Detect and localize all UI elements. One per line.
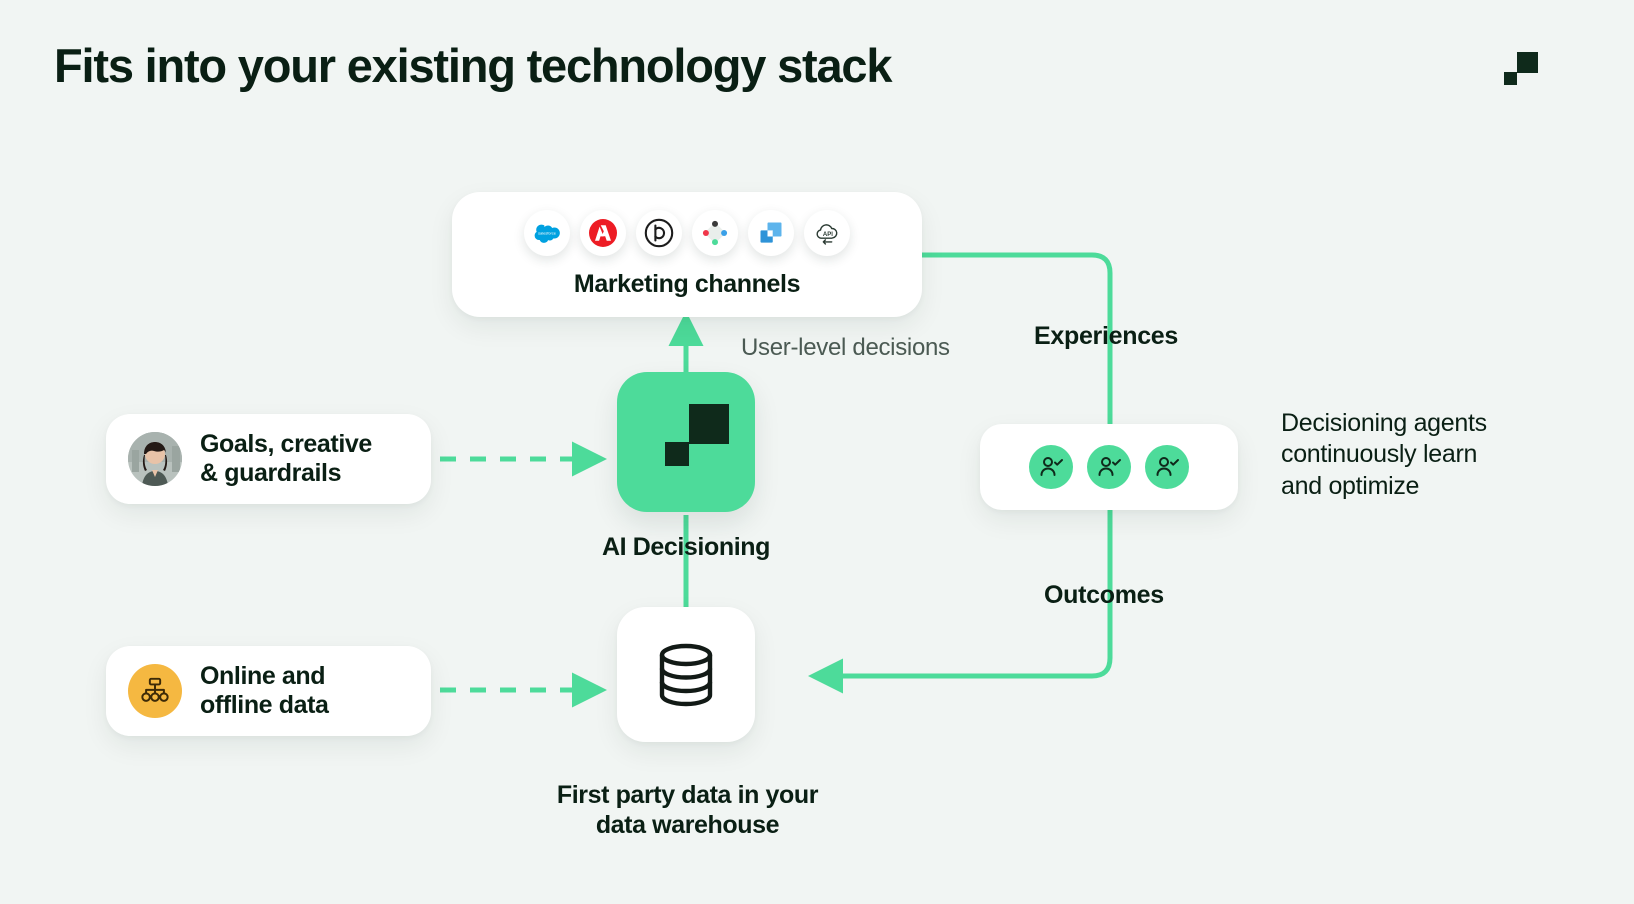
online-offline-data-card[interactable]: Online and offline data bbox=[106, 646, 431, 736]
goals-creative-guardrails-card[interactable]: Goals, creative & guardrails bbox=[106, 414, 431, 504]
db-label-line1: First party data in your bbox=[557, 781, 818, 809]
marketing-channels-label: Marketing channels bbox=[452, 270, 922, 299]
user-check-icon bbox=[1154, 454, 1180, 480]
two-squares-logo-icon bbox=[1500, 50, 1540, 90]
decisioning-agents-callout: Decisioning agents continuously learn an… bbox=[1281, 408, 1581, 502]
ai-logo-square-large bbox=[689, 404, 729, 444]
callout-line2: continuously learn bbox=[1281, 440, 1477, 468]
channel-chip-salesforce[interactable]: salesforce bbox=[524, 210, 570, 256]
adobe-icon bbox=[587, 217, 619, 249]
channel-chip-api[interactable]: API bbox=[804, 210, 850, 256]
experience-user-1[interactable] bbox=[1029, 445, 1073, 489]
goals-line1: Goals, creative bbox=[200, 430, 372, 458]
goals-card-text: Goals, creative & guardrails bbox=[200, 430, 372, 489]
ai-logo-square-small bbox=[665, 442, 689, 466]
blue-squares-icon bbox=[757, 219, 785, 247]
channel-chip-blue-squares[interactable] bbox=[748, 210, 794, 256]
braze-icon bbox=[643, 217, 675, 249]
data-warehouse-card[interactable] bbox=[617, 607, 755, 742]
channel-icons-row: salesforce bbox=[452, 210, 922, 256]
experiences-card[interactable] bbox=[980, 424, 1238, 510]
data-card-text: Online and offline data bbox=[200, 662, 329, 721]
salesforce-icon: salesforce bbox=[532, 218, 562, 248]
label-experiences: Experiences bbox=[1034, 322, 1178, 351]
page-title: Fits into your existing technology stack bbox=[54, 38, 891, 93]
segment-diamond-icon bbox=[700, 218, 730, 248]
channel-chip-adobe[interactable] bbox=[580, 210, 626, 256]
avatar-photo-icon bbox=[128, 432, 182, 486]
marketing-channels-card[interactable]: salesforce bbox=[452, 192, 922, 317]
db-label-line2: data warehouse bbox=[596, 811, 779, 839]
svg-text:salesforce: salesforce bbox=[538, 230, 556, 235]
svg-text:API: API bbox=[823, 232, 833, 238]
data-line2: offline data bbox=[200, 691, 329, 719]
database-icon bbox=[656, 643, 716, 707]
callout-line3: and optimize bbox=[1281, 472, 1419, 500]
diagram-canvas: Fits into your existing technology stack bbox=[0, 0, 1634, 904]
data-warehouse-label: First party data in your data warehouse bbox=[500, 780, 875, 840]
sitemap-icon bbox=[140, 676, 170, 706]
experience-user-3[interactable] bbox=[1145, 445, 1189, 489]
ai-decisioning-label: AI Decisioning bbox=[560, 533, 812, 562]
data-line1: Online and bbox=[200, 662, 325, 690]
ai-decisioning-block[interactable] bbox=[617, 372, 755, 512]
callout-line1: Decisioning agents bbox=[1281, 409, 1487, 437]
user-check-icon bbox=[1096, 454, 1122, 480]
sitemap-icon-badge bbox=[128, 664, 182, 718]
channel-chip-segment[interactable] bbox=[692, 210, 738, 256]
experience-user-2[interactable] bbox=[1087, 445, 1131, 489]
user-check-icon bbox=[1038, 454, 1064, 480]
person-photo-avatar bbox=[128, 432, 182, 486]
label-user-level-decisions: User-level decisions bbox=[741, 334, 950, 362]
goals-line2: & guardrails bbox=[200, 459, 341, 487]
label-outcomes: Outcomes bbox=[1044, 581, 1164, 610]
channel-chip-braze[interactable] bbox=[636, 210, 682, 256]
api-cloud-icon: API bbox=[812, 218, 842, 248]
